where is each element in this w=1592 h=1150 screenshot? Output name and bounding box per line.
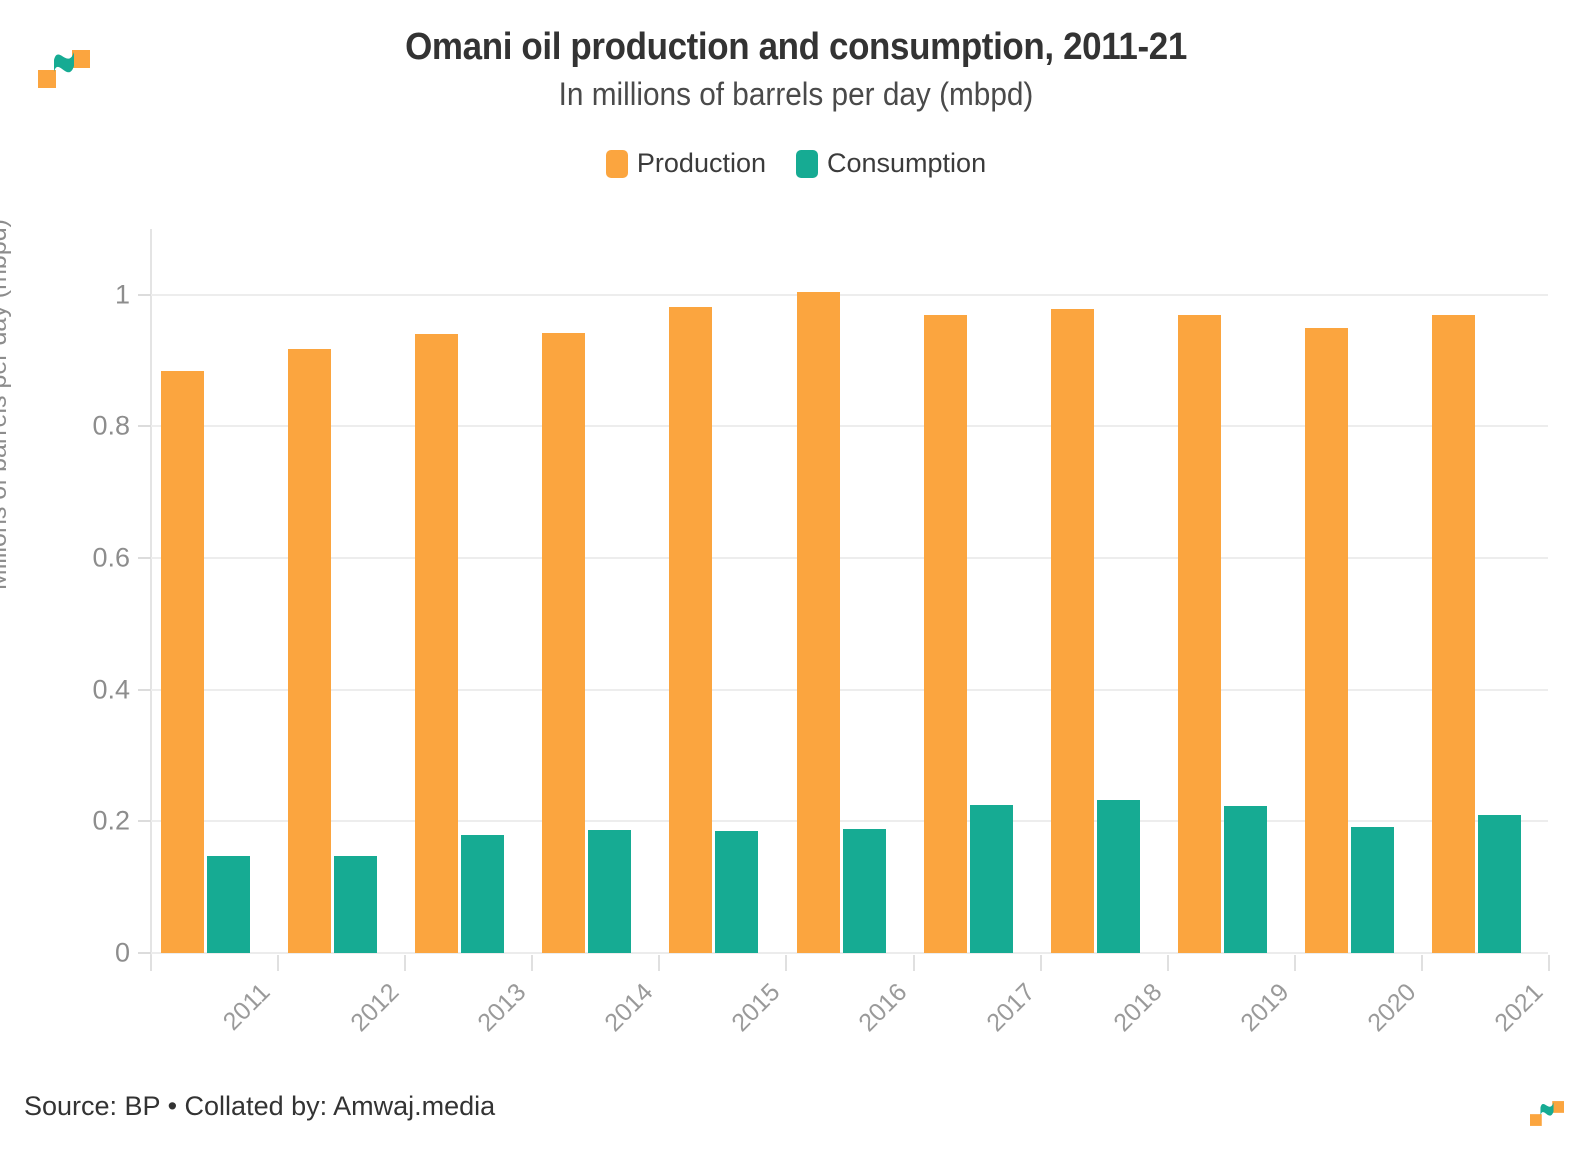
x-tick-label-2019: 2019 <box>1235 978 1295 1038</box>
x-tick-label-2013: 2013 <box>472 978 532 1038</box>
y-tick-label: 0 <box>60 938 130 969</box>
bar-production-2020[interactable] <box>1305 328 1348 953</box>
y-tick-mark <box>138 689 151 691</box>
x-tick-mark <box>150 955 152 971</box>
bar-consumption-2013[interactable] <box>461 835 504 953</box>
x-tick-mark <box>404 955 406 971</box>
bar-production-2019[interactable] <box>1178 315 1221 953</box>
y-tick-label: 0.2 <box>60 806 130 837</box>
chart-subtitle: In millions of barrels per day (mbpd) <box>56 76 1537 113</box>
bar-production-2015[interactable] <box>669 307 712 953</box>
x-tick-label-2021: 2021 <box>1489 978 1549 1038</box>
source-note: Source: BP • Collated by: Amwaj.media <box>24 1091 495 1122</box>
bar-consumption-2011[interactable] <box>207 856 250 953</box>
legend-swatch-production <box>606 150 628 178</box>
legend-item-consumption[interactable]: Consumption <box>796 148 986 179</box>
x-tick-label-2018: 2018 <box>1108 978 1168 1038</box>
y-tick-label: 0.4 <box>60 674 130 705</box>
x-tick-label-2020: 2020 <box>1362 978 1422 1038</box>
plot-area <box>150 229 1548 953</box>
x-tick-mark <box>1167 955 1169 971</box>
legend-label-consumption: Consumption <box>827 148 986 179</box>
x-tick-label-2017: 2017 <box>981 978 1041 1038</box>
bar-production-2018[interactable] <box>1051 309 1094 953</box>
x-tick-label-2011: 2011 <box>218 978 277 1037</box>
x-tick-mark <box>1421 955 1423 971</box>
bar-production-2013[interactable] <box>415 334 458 953</box>
bar-consumption-2021[interactable] <box>1478 815 1521 953</box>
legend-item-production[interactable]: Production <box>606 148 766 179</box>
x-tick-mark <box>1294 955 1296 971</box>
bar-production-2017[interactable] <box>924 315 967 953</box>
bar-consumption-2017[interactable] <box>970 805 1013 953</box>
chart-legend: Production Consumption <box>0 148 1592 179</box>
bar-production-2014[interactable] <box>542 333 585 953</box>
y-tick-label: 0.8 <box>60 411 130 442</box>
x-tick-mark <box>913 955 915 971</box>
amwaj-logo-icon-footer <box>1530 1101 1564 1126</box>
x-tick-mark <box>785 955 787 971</box>
bar-production-2021[interactable] <box>1432 315 1475 953</box>
chart-page: Omani oil production and consumption, 20… <box>0 0 1592 1150</box>
bar-production-2012[interactable] <box>288 349 331 953</box>
y-tick-label: 1 <box>60 279 130 310</box>
y-tick-mark <box>138 425 151 427</box>
y-tick-mark <box>138 557 151 559</box>
bar-consumption-2015[interactable] <box>715 831 758 953</box>
x-tick-mark <box>1548 955 1550 971</box>
x-tick-label-2012: 2012 <box>345 978 405 1038</box>
x-tick-label-2016: 2016 <box>854 978 914 1038</box>
bar-consumption-2018[interactable] <box>1097 800 1140 953</box>
bar-consumption-2016[interactable] <box>843 829 886 953</box>
y-tick-mark <box>138 820 151 822</box>
bar-consumption-2014[interactable] <box>588 830 631 953</box>
bar-consumption-2019[interactable] <box>1224 806 1267 953</box>
y-axis-title: Millions of barrels per day (mbpd) <box>0 219 13 590</box>
chart-title: Omani oil production and consumption, 20… <box>64 26 1529 69</box>
y-tick-mark <box>138 952 151 954</box>
gridline <box>150 294 1548 296</box>
bar-production-2016[interactable] <box>797 292 840 953</box>
x-tick-mark <box>277 955 279 971</box>
bar-consumption-2020[interactable] <box>1351 827 1394 953</box>
y-tick-label: 0.6 <box>60 543 130 574</box>
legend-swatch-consumption <box>796 150 818 178</box>
x-tick-mark <box>1040 955 1042 971</box>
x-tick-label-2015: 2015 <box>727 978 787 1038</box>
bar-consumption-2012[interactable] <box>334 856 377 953</box>
bar-production-2011[interactable] <box>161 371 204 953</box>
x-tick-mark <box>531 955 533 971</box>
x-tick-label-2014: 2014 <box>600 978 660 1038</box>
y-tick-mark <box>138 294 151 296</box>
legend-label-production: Production <box>637 148 766 179</box>
x-tick-mark <box>658 955 660 971</box>
